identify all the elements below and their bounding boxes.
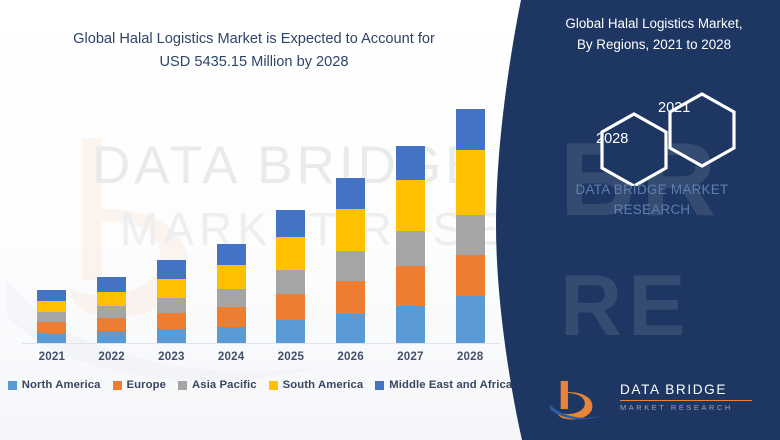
stacked-bar-group <box>22 96 500 343</box>
x-axis-tick-2024: 2024 <box>201 350 261 370</box>
bar-segment <box>396 180 425 230</box>
x-axis-tick-2026: 2026 <box>321 350 381 370</box>
x-axis-tick-2021: 2021 <box>22 350 82 370</box>
legend-label: South America <box>283 379 364 391</box>
bar-segment <box>217 307 246 327</box>
logo-mark-icon <box>548 378 606 422</box>
data-bridge-logo[interactable]: DATA BRIDGE MARKET RESEARCH <box>548 378 764 424</box>
legend-item[interactable]: Middle East and Africa <box>375 379 512 391</box>
hexagon-group <box>548 88 758 186</box>
bar-column-2022 <box>82 96 142 343</box>
bar-column-2027 <box>381 96 441 343</box>
bar-segment <box>336 178 365 209</box>
chart-title-line-2: USD 5435.15 Million by 2028 <box>24 51 484 74</box>
chart-panel: DATA BRIDGE MARKET RESEARCH Global Halal… <box>0 0 540 440</box>
infographic-root: DATA BRIDGE MARKET RESEARCH Global Halal… <box>0 0 780 440</box>
stacked-bar[interactable] <box>396 146 425 343</box>
bar-segment <box>97 318 126 331</box>
logo-text-block: DATA BRIDGE MARKET RESEARCH <box>620 382 752 412</box>
brand-panel-name: DATA BRIDGE MARKET RESEARCH <box>530 180 774 220</box>
stacked-bar[interactable] <box>37 290 66 343</box>
bar-segment <box>396 266 425 306</box>
bar-segment <box>396 146 425 180</box>
stacked-bar[interactable] <box>336 178 365 343</box>
bar-segment <box>276 294 305 321</box>
brand-panel-name-line-2: RESEARCH <box>530 200 774 220</box>
stacked-bar[interactable] <box>217 244 246 343</box>
legend-swatch-icon <box>113 381 122 390</box>
bar-column-2025 <box>261 96 321 343</box>
bar-segment <box>336 281 365 314</box>
bar-segment <box>396 231 425 267</box>
brand-panel-title-line-1: Global Halal Logistics Market, <box>534 13 774 34</box>
bar-segment <box>97 306 126 318</box>
bar-segment <box>276 237 305 270</box>
bar-segment <box>97 277 126 292</box>
hexagon-2028-label: 2028 <box>596 131 628 147</box>
legend-swatch-icon <box>8 381 17 390</box>
hexagon-shapes <box>548 88 758 186</box>
bar-segment <box>37 333 66 343</box>
bar-column-2024 <box>201 96 261 343</box>
bar-segment <box>217 289 246 307</box>
bar-segment <box>157 329 186 343</box>
chart-legend: North AmericaEuropeAsia PacificSouth Ame… <box>0 375 520 395</box>
bar-column-2021 <box>22 96 82 343</box>
brand-panel-content: Global Halal Logistics Market, By Region… <box>520 0 780 440</box>
hexagon-2028 <box>602 114 666 186</box>
x-axis-labels: 20212022202320242025202620272028 <box>22 350 500 370</box>
x-axis-tick-2028: 2028 <box>440 350 500 370</box>
legend-swatch-icon <box>375 381 384 390</box>
bar-segment <box>276 210 305 237</box>
bar-segment <box>456 255 485 295</box>
bar-segment <box>396 306 425 343</box>
bar-column-2023 <box>142 96 202 343</box>
axis-baseline <box>22 343 500 344</box>
logo-divider <box>620 400 752 401</box>
bar-segment <box>456 296 485 343</box>
bar-segment <box>336 314 365 343</box>
bar-segment <box>157 298 186 312</box>
bar-segment <box>456 215 485 255</box>
x-axis-tick-2027: 2027 <box>381 350 441 370</box>
bar-segment <box>456 109 485 150</box>
bar-segment <box>37 312 66 322</box>
bar-segment <box>276 270 305 294</box>
x-axis-tick-2023: 2023 <box>142 350 202 370</box>
x-axis-tick-2022: 2022 <box>82 350 142 370</box>
legend-item[interactable]: Europe <box>113 379 167 391</box>
brand-panel-name-line-1: DATA BRIDGE MARKET <box>530 180 774 200</box>
legend-label: Asia Pacific <box>192 379 257 391</box>
brand-panel-title-line-2: By Regions, 2021 to 2028 <box>534 34 774 55</box>
legend-item[interactable]: South America <box>269 379 364 391</box>
hexagon-2021-label: 2021 <box>658 100 690 116</box>
bar-segment <box>336 251 365 281</box>
stacked-bar[interactable] <box>157 260 186 343</box>
bar-segment <box>157 279 186 298</box>
bar-column-2026 <box>321 96 381 343</box>
bar-segment <box>217 244 246 265</box>
legend-swatch-icon <box>178 381 187 390</box>
bar-segment <box>217 327 246 343</box>
bar-segment <box>456 150 485 215</box>
legend-swatch-icon <box>269 381 278 390</box>
logo-title: DATA BRIDGE <box>620 382 752 397</box>
stacked-bar[interactable] <box>456 109 485 343</box>
logo-subtitle: MARKET RESEARCH <box>620 403 752 412</box>
bar-segment <box>276 320 305 343</box>
brand-panel-title: Global Halal Logistics Market, By Region… <box>534 13 774 56</box>
bar-segment <box>157 313 186 329</box>
bar-segment <box>97 331 126 343</box>
bar-segment <box>37 301 66 312</box>
legend-item[interactable]: Asia Pacific <box>178 379 257 391</box>
bar-segment <box>37 322 66 333</box>
legend-label: Europe <box>127 379 167 391</box>
legend-item[interactable]: North America <box>8 379 101 391</box>
bar-segment <box>157 260 186 279</box>
chart-title-line-1: Global Halal Logistics Market is Expecte… <box>24 28 484 51</box>
chart-title: Global Halal Logistics Market is Expecte… <box>24 28 484 73</box>
stacked-bar[interactable] <box>97 277 126 344</box>
bar-segment <box>97 292 126 306</box>
bar-segment <box>217 265 246 289</box>
bar-segment <box>336 209 365 251</box>
bar-segment <box>37 290 66 301</box>
legend-label: North America <box>22 379 101 391</box>
stacked-bar[interactable] <box>276 210 305 343</box>
bar-column-2028 <box>440 96 500 343</box>
legend-label: Middle East and Africa <box>389 379 512 391</box>
x-axis-tick-2025: 2025 <box>261 350 321 370</box>
